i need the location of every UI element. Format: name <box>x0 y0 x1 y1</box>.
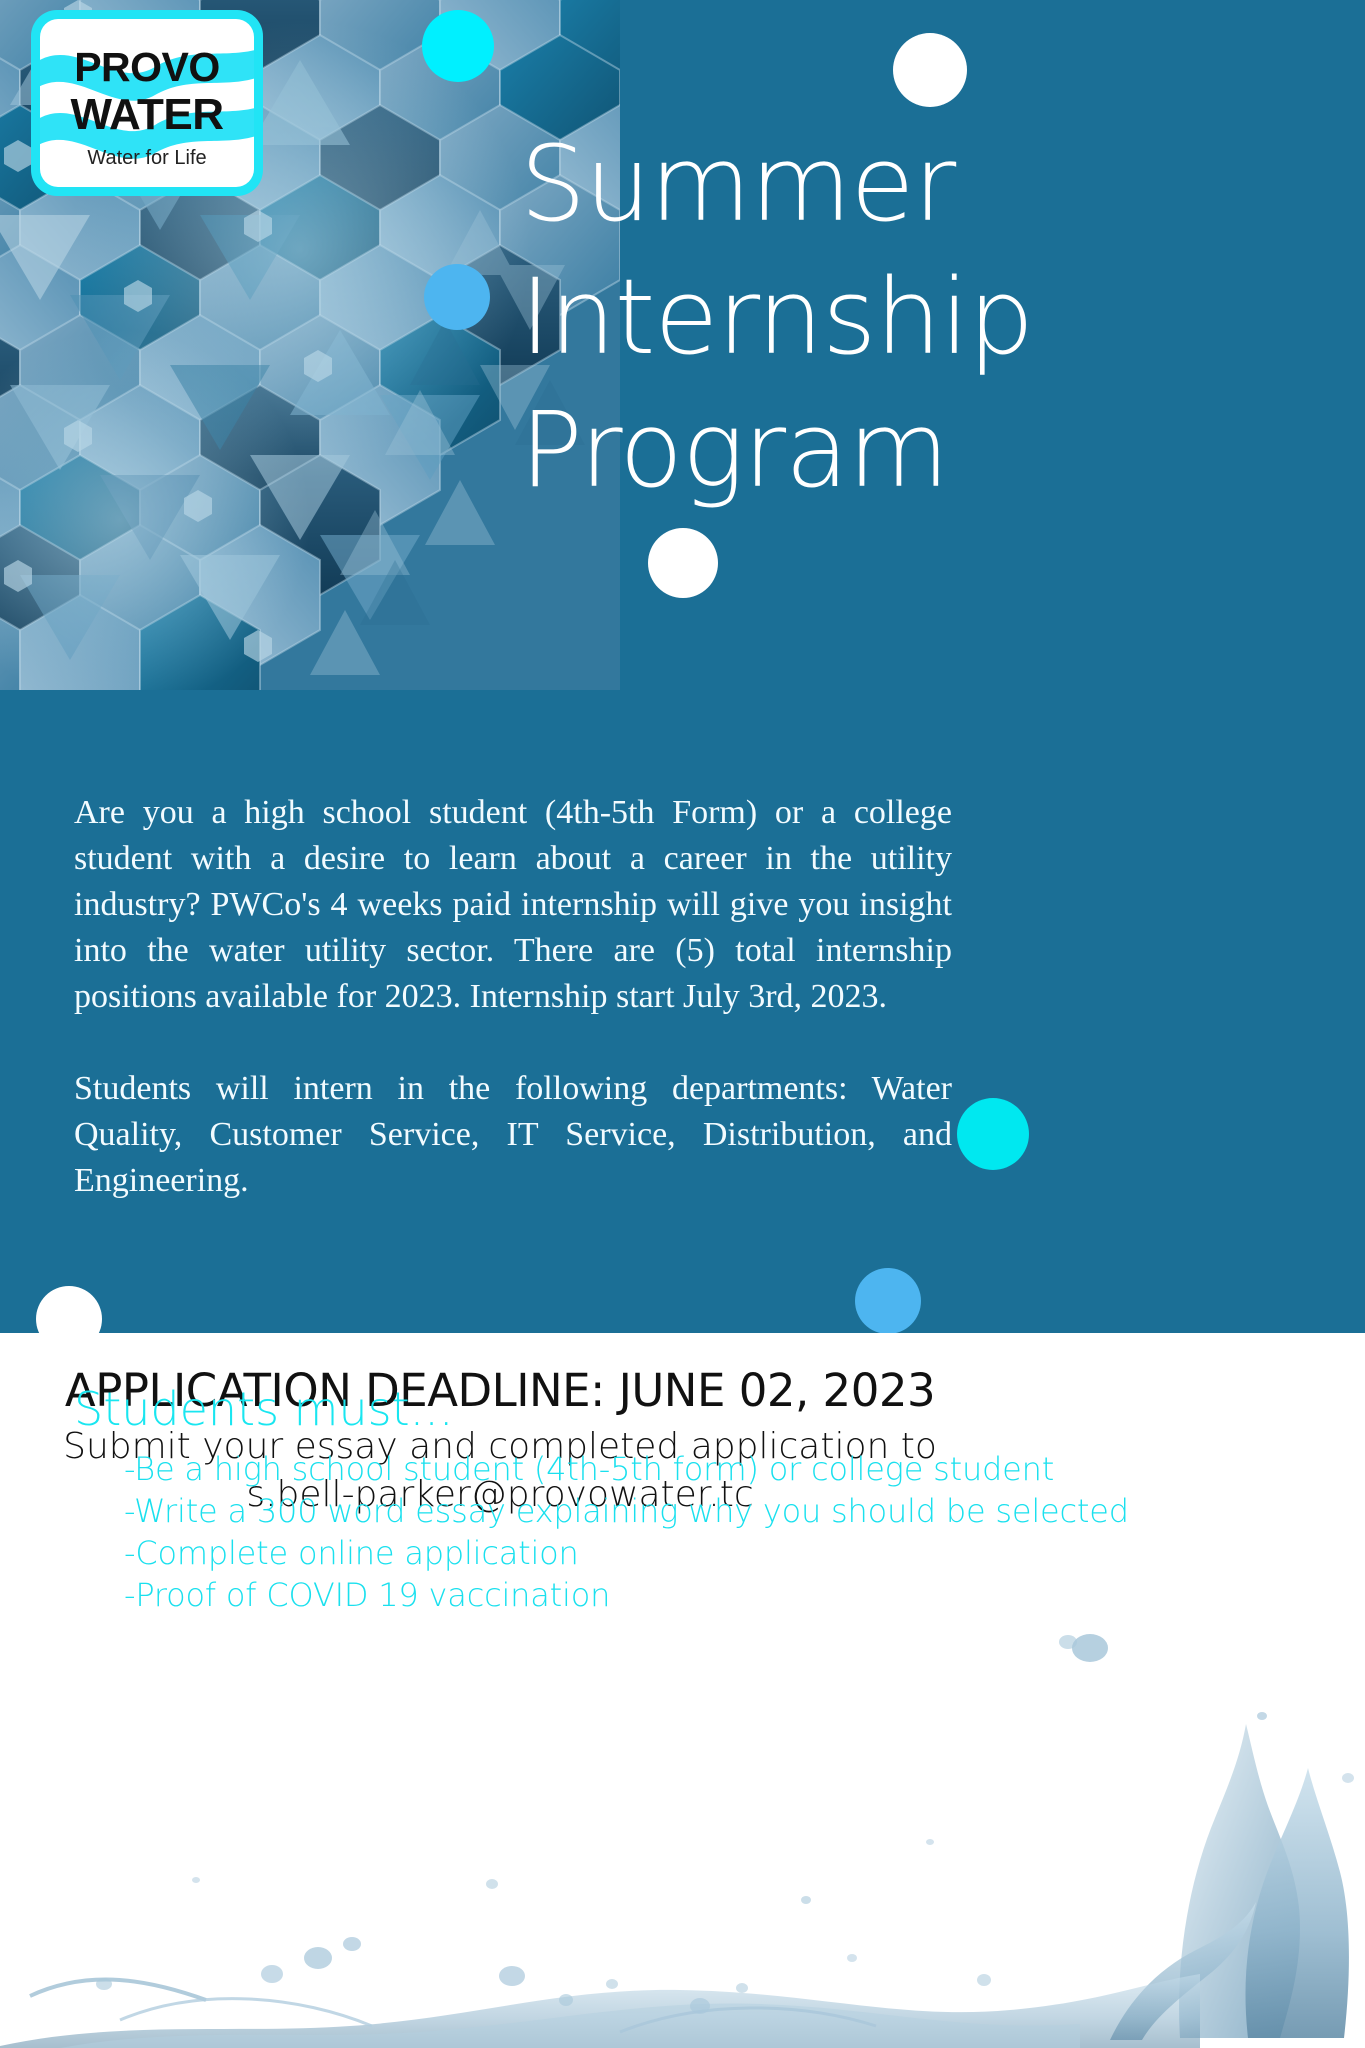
title-line-3: Program <box>520 384 1340 517</box>
white-circle-top <box>893 33 967 107</box>
logo-line-water: WATER <box>40 93 254 137</box>
body-copy: Are you a high school student (4th-5th F… <box>74 790 952 1204</box>
cyan-circle-right <box>957 1098 1029 1170</box>
footer-band: APPLICATION DEADLINE: JUNE 02, 2023 Subm… <box>0 1333 1365 2048</box>
list-item: -Be a high school student (4th-5th form)… <box>124 1448 1124 1490</box>
title-line-1: Summer <box>520 118 1340 251</box>
logo-line-provo: PROVO <box>40 47 254 88</box>
requirements-list: -Be a high school student (4th-5th form)… <box>124 1448 1124 1616</box>
body-paragraph-1: Are you a high school student (4th-5th F… <box>74 790 952 1020</box>
title-line-2: Internship <box>520 251 1340 384</box>
cyan-circle-top <box>422 10 494 82</box>
requirements-heading: Students must... <box>74 1382 454 1436</box>
water-splash-graphic <box>0 1628 1365 2048</box>
body-paragraph-2: Students will intern in the following de… <box>74 1066 952 1204</box>
logo-inner-panel: PROVO WATER Water for Life <box>40 19 254 187</box>
provo-water-logo: PROVO WATER Water for Life <box>31 10 263 196</box>
list-item: -Complete online application <box>124 1532 1124 1574</box>
logo-tagline: Water for Life <box>40 147 254 170</box>
list-item: -Proof of COVID 19 vaccination <box>124 1574 1124 1616</box>
white-circle-mid <box>648 528 718 598</box>
blue-circle-low <box>855 1268 921 1334</box>
poster-canvas: PROVO WATER Water for Life Summer Intern… <box>0 0 1365 2048</box>
blue-circle-mid <box>424 264 490 330</box>
list-item: -Write a 300 word essay explaining why y… <box>124 1490 1124 1532</box>
poster-title: Summer Internship Program <box>520 118 1340 517</box>
